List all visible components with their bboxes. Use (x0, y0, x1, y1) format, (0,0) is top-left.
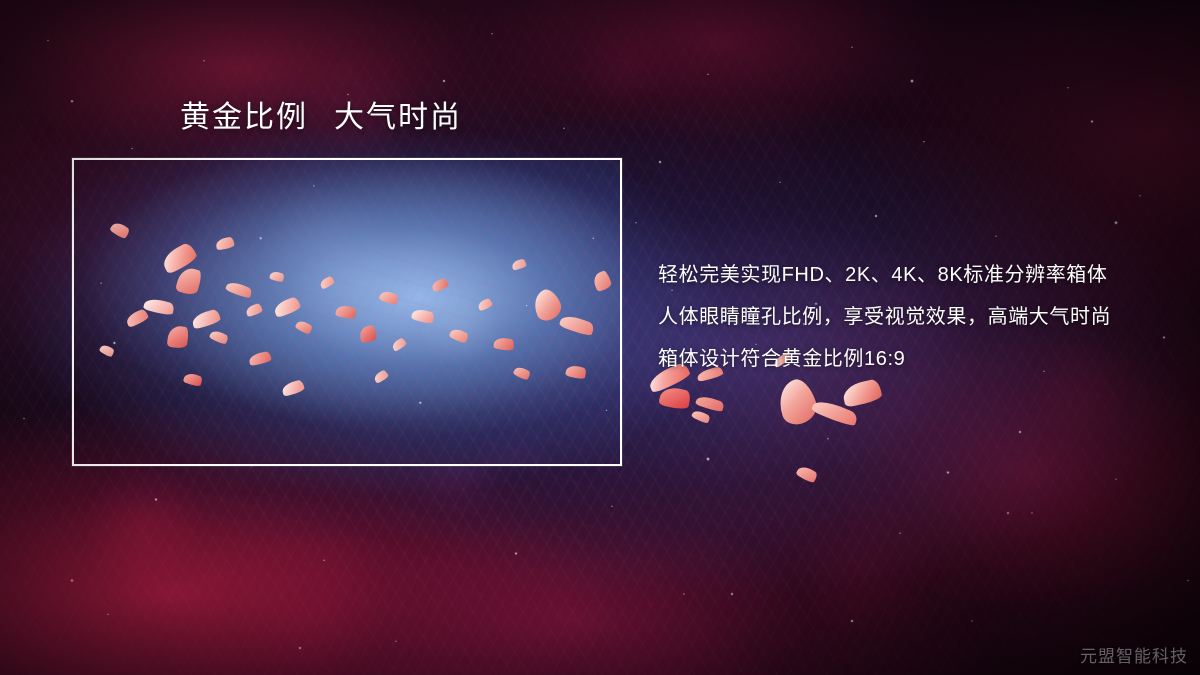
page-title: 黄金比例大气时尚 (180, 100, 462, 136)
watermark-label: 元盟智能科技 (1080, 642, 1188, 667)
title-part-2: 大气时尚 (334, 101, 462, 134)
body-text-block: 轻松完美实现FHD、2K、4K、8K标准分辨率箱体 人体眼睛瞳孔比例，享受视觉效… (658, 254, 1111, 380)
slide-canvas: 黄金比例大气时尚 轻松完美实现FHD、2K、4K、8K标准分辨率箱体 人体眼睛瞳… (0, 0, 1200, 675)
body-line-1: 轻松完美实现FHD、2K、4K、8K标准分辨率箱体 (658, 254, 1111, 296)
body-line-2: 人体眼睛瞳孔比例，享受视觉效果，高端大气时尚 (658, 296, 1111, 338)
title-part-1: 黄金比例 (180, 101, 308, 134)
body-line-3: 箱体设计符合黄金比例16:9 (658, 338, 1111, 380)
